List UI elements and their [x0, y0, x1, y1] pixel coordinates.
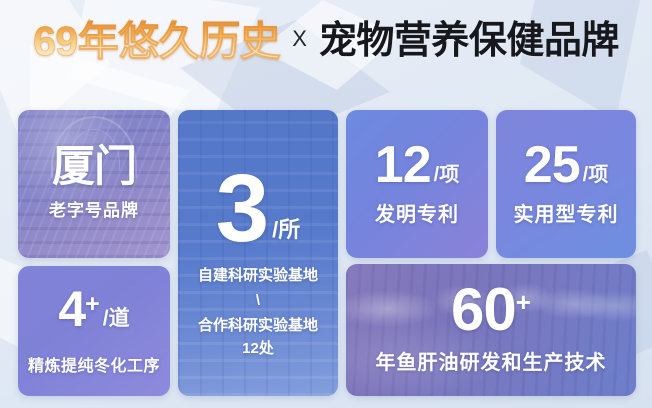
labs-number-row: 3 /所: [216, 168, 301, 250]
labs-value: 3: [216, 168, 268, 250]
labs-card-content: 3 /所 自建科研实验基地 \ 合作科研实验基地 12处: [178, 110, 338, 396]
refine-unit: /道: [103, 302, 130, 334]
banner-header: 69年悠久历史 X 宠物营养保健品牌: [0, 0, 652, 82]
invention-card-content: 12 /项 发明专利: [346, 110, 488, 258]
utility-value: 25: [524, 141, 580, 190]
utility-card-content: 25 /项 实用型专利: [496, 110, 636, 258]
xiamen-title: 厦门: [52, 147, 136, 188]
card-utility-patents[interactable]: 25 /项 实用型专利: [496, 110, 636, 258]
refine-plus-sign: +: [85, 292, 100, 317]
experience-number-row: 60 +: [451, 281, 531, 338]
utility-subtitle: 实用型专利: [514, 198, 619, 227]
utility-number-row: 25 /项: [524, 141, 608, 190]
experience-card-content: 60 + 年鱼肝油研发和生产技术: [346, 264, 636, 396]
invention-subtitle: 发明专利: [375, 198, 459, 227]
refine-card-content: 4 + /道 精炼提纯冬化工序: [18, 266, 170, 396]
experience-subtitle: 年鱼肝油研发和生产技术: [376, 346, 607, 375]
card-research-labs[interactable]: 3 /所 自建科研实验基地 \ 合作科研实验基地 12处: [178, 110, 338, 396]
infographic-banner: 69年悠久历史 X 宠物营养保健品牌 厦门 老字号品牌 4 + /道 精炼提纯冬…: [0, 0, 652, 408]
labs-separator: \: [256, 292, 260, 309]
header-separator-x: X: [290, 28, 309, 54]
invention-number-row: 12 /项: [375, 141, 459, 190]
refine-subtitle: 精炼提纯冬化工序: [28, 352, 160, 376]
refine-value: 4: [58, 286, 85, 334]
header-gold-title: 69年悠久历史: [33, 21, 280, 62]
experience-value: 60: [451, 281, 516, 338]
card-production-experience[interactable]: 60 + 年鱼肝油研发和生产技术: [346, 264, 636, 396]
invention-value: 12: [375, 141, 431, 190]
xiamen-subtitle: 老字号品牌: [49, 196, 139, 221]
header-dark-title: 宠物营养保健品牌: [319, 22, 619, 60]
card-refine-process[interactable]: 4 + /道 精炼提纯冬化工序: [18, 266, 170, 396]
labs-line-2: 合作科研实验基地: [198, 314, 318, 335]
invention-unit: /项: [434, 158, 460, 190]
refine-number-row: 4 + /道: [58, 286, 129, 334]
card-invention-patents[interactable]: 12 /项 发明专利: [346, 110, 488, 258]
xiamen-card-content: 厦门 老字号品牌: [18, 110, 170, 258]
labs-unit: /所: [272, 212, 300, 250]
labs-line-1: 自建科研实验基地: [198, 264, 318, 285]
card-xiamen[interactable]: 厦门 老字号品牌: [18, 110, 170, 258]
labs-line-3: 12处: [242, 337, 274, 358]
experience-plus-sign: +: [516, 287, 531, 318]
utility-unit: /项: [583, 158, 609, 190]
